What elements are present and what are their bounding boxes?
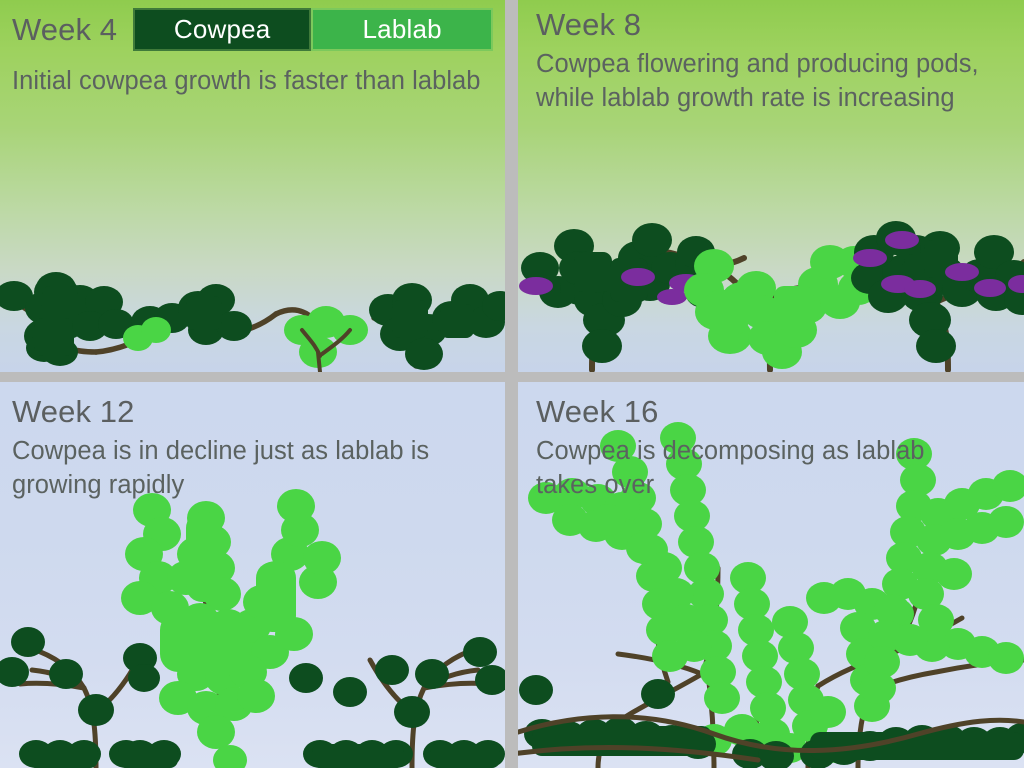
panel-week-16: Week 16 Cowpea is decomposing as lablab … <box>518 382 1024 768</box>
panel-text-week-4: Week 4 Cowpea Lablab Initial cowpea grow… <box>0 0 505 98</box>
legend-label-cowpea: Cowpea <box>174 14 271 45</box>
panel-text-week-8: Week 8 Cowpea flowering and producing po… <box>518 0 1024 115</box>
legend-chip-cowpea[interactable]: Cowpea <box>133 8 311 51</box>
week-body-8: Cowpea flowering and producing pods, whi… <box>536 47 1001 115</box>
week-title-16: Week 16 <box>536 396 1024 427</box>
week-title-8: Week 8 <box>536 9 1024 40</box>
panel-text-week-16: Week 16 Cowpea is decomposing as lablab … <box>518 382 1024 502</box>
legend: Cowpea Lablab <box>133 8 493 51</box>
week-body-16: Cowpea is decomposing as lablab takes ov… <box>536 434 956 502</box>
week-title-4: Week 4 <box>12 8 117 45</box>
week-body-4: Initial cowpea growth is faster than lab… <box>12 64 482 98</box>
legend-label-lablab: Lablab <box>363 14 442 45</box>
panel-week-4: Week 4 Cowpea Lablab Initial cowpea grow… <box>0 0 505 372</box>
panel-text-week-12: Week 12 Cowpea is in decline just as lab… <box>0 382 505 502</box>
ground-cowpea-leaves <box>19 740 505 768</box>
panel-grid: Week 4 Cowpea Lablab Initial cowpea grow… <box>0 0 1024 768</box>
panel-week-8: Week 8 Cowpea flowering and producing po… <box>518 0 1024 372</box>
week-body-12: Cowpea is in decline just as lablab is g… <box>12 434 442 502</box>
week-title-12: Week 12 <box>12 396 505 427</box>
legend-chip-lablab[interactable]: Lablab <box>311 8 493 51</box>
panel-week-12: Week 12 Cowpea is in decline just as lab… <box>0 382 505 768</box>
